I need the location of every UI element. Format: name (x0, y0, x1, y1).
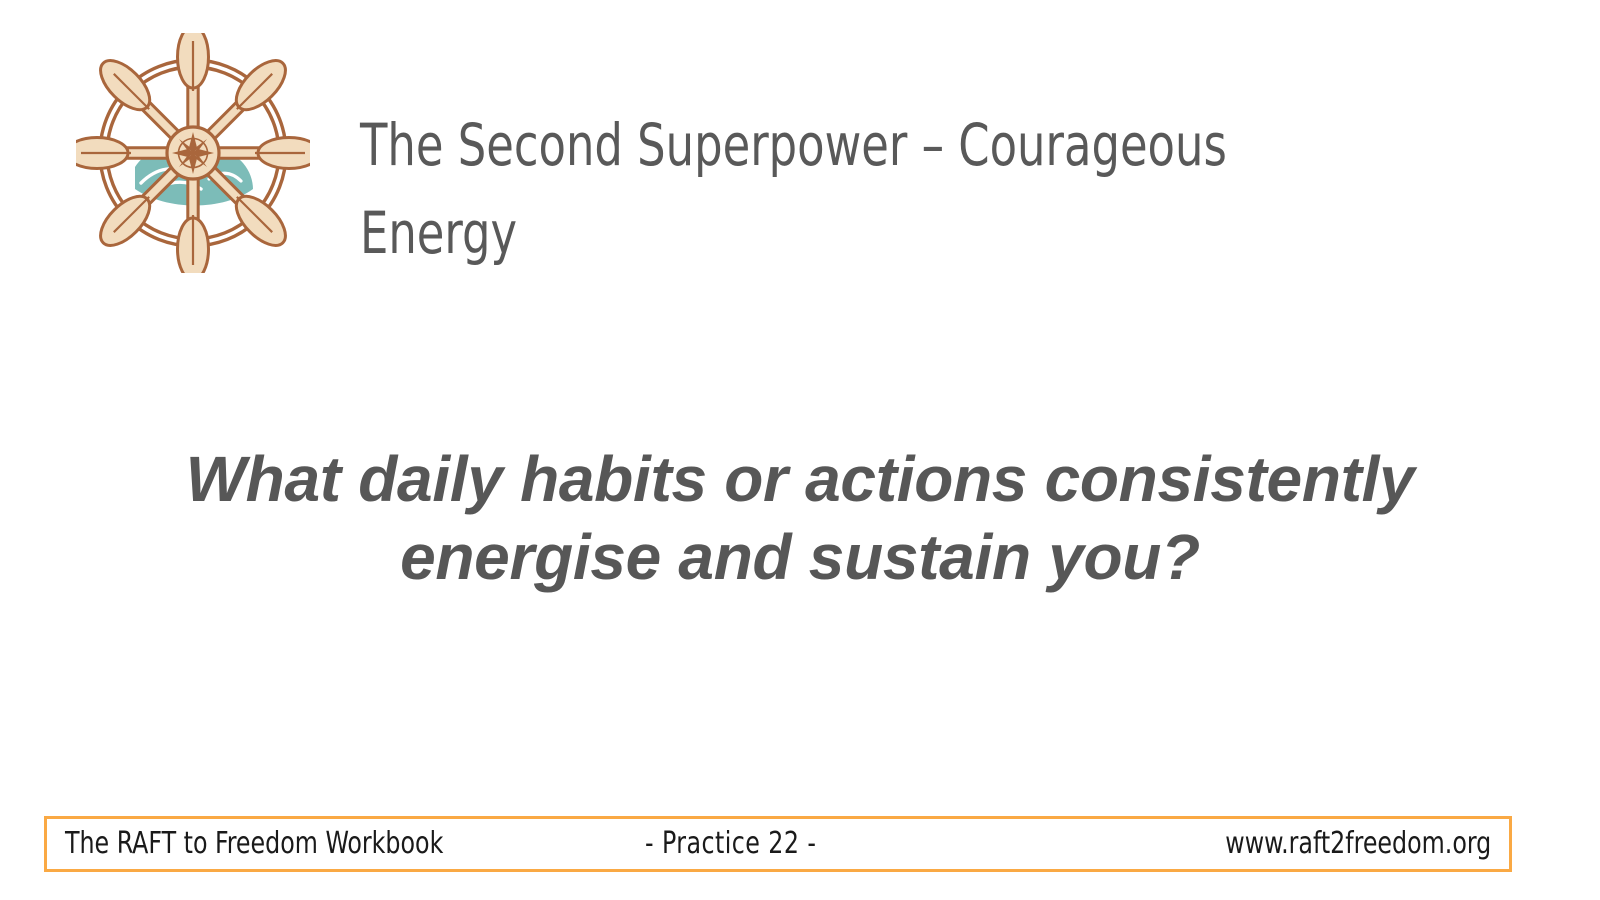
question-line-1: What daily habits or actions consistentl… (60, 440, 1540, 518)
footer-practice-label: - Practice 22 - (645, 827, 816, 861)
slide-canvas: The Second Superpower – Courageous Energ… (0, 0, 1600, 900)
footer-workbook-title: The RAFT to Freedom Workbook (65, 827, 443, 861)
ships-wheel-icon (76, 33, 310, 273)
footer-website-link[interactable]: www.raft2freedom.org (1225, 827, 1491, 861)
reflection-question: What daily habits or actions consistentl… (60, 440, 1540, 596)
compass-rose-icon (167, 127, 219, 179)
raft-to-freedom-logo (76, 33, 310, 273)
question-line-2: energise and sustain you? (60, 518, 1540, 596)
page-title: The Second Superpower – Courageous Energ… (360, 101, 1375, 277)
footer-bar: The RAFT to Freedom Workbook - Practice … (44, 816, 1512, 872)
